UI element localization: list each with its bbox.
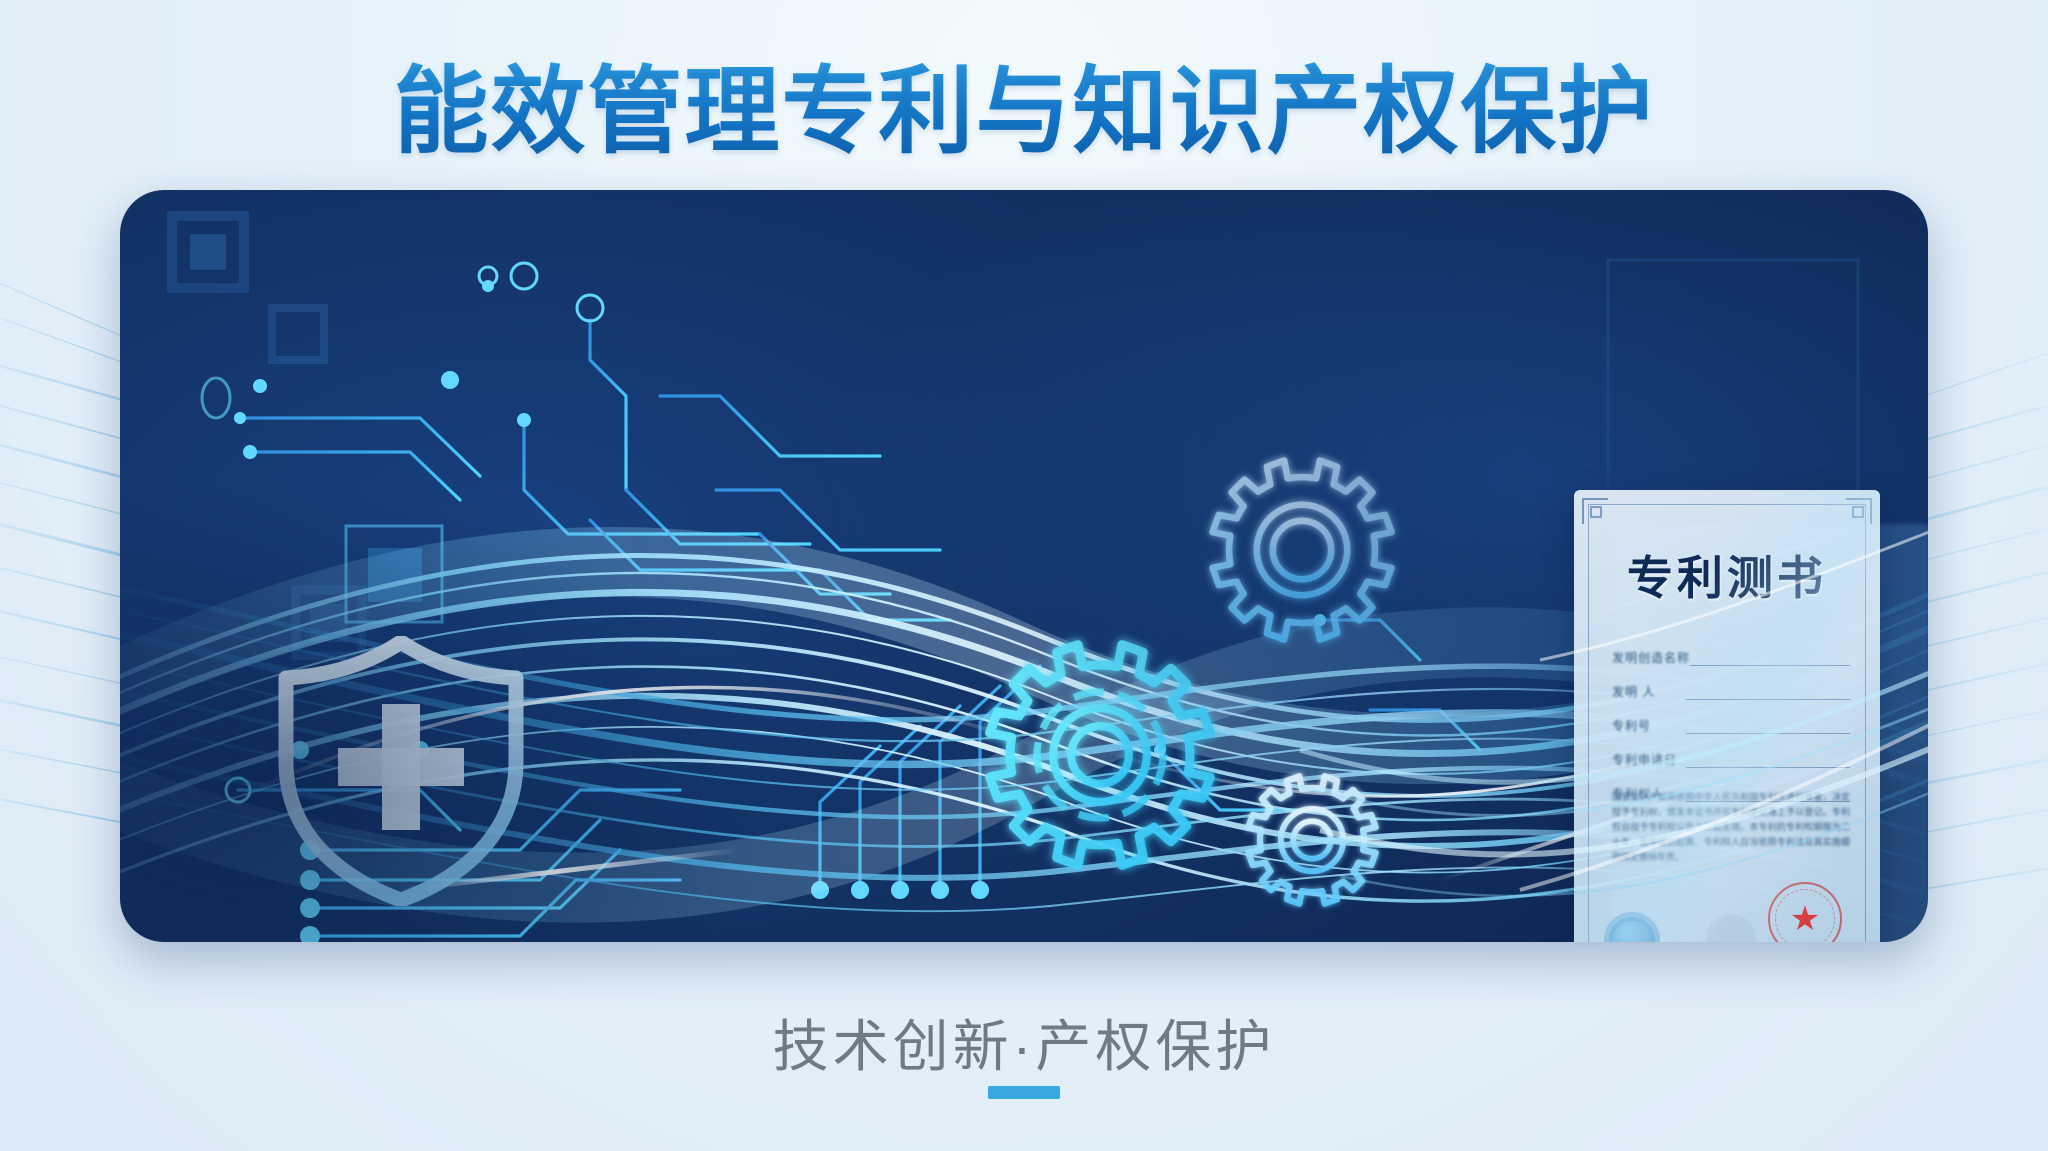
- shield-icon: [270, 636, 532, 906]
- patent-certificate: 专利测书 发明创造名称 发明 人 专利号 专利申请日: [1574, 490, 1880, 942]
- certificate-corner-ornament: [1582, 498, 1608, 524]
- chip-icon: [346, 526, 442, 622]
- certificate-body-text: 国家知识产权局依照中华人民共和国专利法进行审查，决定授予专利权，颁发本证书并在专…: [1612, 790, 1850, 865]
- hero-card: 专利测书 发明创造名称 发明 人 专利号 专利申请日: [120, 190, 1928, 942]
- certificate-field-label: 专利申请日: [1612, 751, 1686, 768]
- page-subtitle: 技术创新·产权保护: [0, 1002, 2048, 1083]
- seal-rim: [1775, 889, 1835, 942]
- certificate-field-row: 专利申请日: [1612, 734, 1850, 768]
- certificate-field-row: 发明 人: [1612, 666, 1850, 700]
- certificate-title: 专利测书: [1574, 542, 1880, 608]
- certificate-corner-ornament: [1846, 498, 1872, 524]
- gear-icon: [1213, 461, 1392, 640]
- certificate-field-label: 专利号: [1612, 717, 1686, 734]
- gear-icon: [1248, 776, 1376, 904]
- accent-bar: [988, 1086, 1060, 1099]
- page-title: 能效管理专利与知识产权保护: [0, 60, 2048, 165]
- certificate-fields: 发明创造名称 发明 人 专利号 专利申请日: [1612, 632, 1850, 802]
- gear-icon: [990, 645, 1211, 866]
- certificate-field-row: 专利号: [1612, 700, 1850, 734]
- certificate-field-line: [1686, 752, 1850, 768]
- certificate-field-line: [1690, 650, 1850, 666]
- poster-canvas: 能效管理专利与知识产权保护: [0, 0, 2048, 1151]
- certificate-field-line: [1686, 718, 1850, 734]
- certificate-field-line: [1686, 684, 1850, 700]
- cross-icon: [338, 704, 464, 830]
- certificate-field-row: 发明创造名称: [1612, 632, 1850, 666]
- certificate-field-label: 发明 人: [1612, 683, 1686, 700]
- certificate-field-label: 发明创造名称: [1612, 649, 1690, 666]
